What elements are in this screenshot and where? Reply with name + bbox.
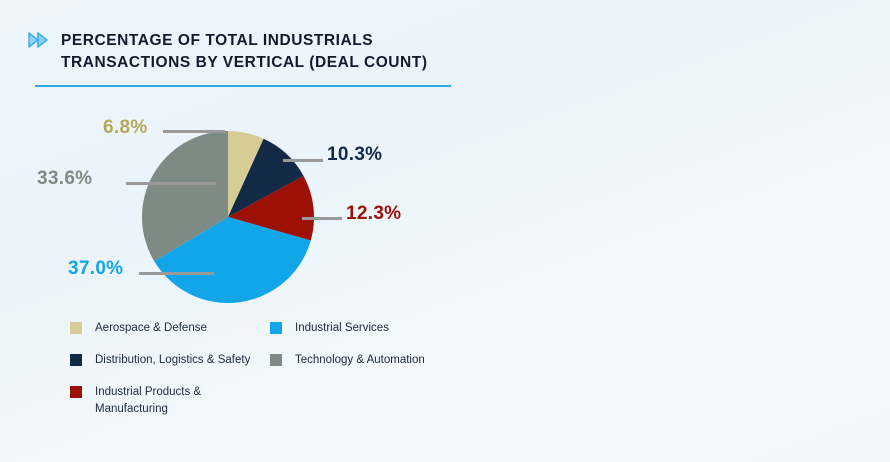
pie-percentage-label: 6.8% xyxy=(103,117,148,139)
pie-chart-panel: PERCENTAGE OF TOTAL INDUSTRIALS TRANSACT… xyxy=(0,0,462,462)
legend-label: Industrial Products & Manufacturing xyxy=(95,384,270,417)
legend-item: Technology & Automation xyxy=(270,352,460,384)
pie-leader-line xyxy=(283,159,323,162)
legend-swatch xyxy=(70,354,82,366)
pie-chart-legend: Aerospace & DefenseIndustrial ServicesDi… xyxy=(70,320,460,417)
pie-leader-line xyxy=(302,217,342,220)
bar-chart-panel: CAPITAL DEPLOYED BY VERTICAL Capital Dep… xyxy=(462,0,890,462)
legend-swatch xyxy=(270,354,282,366)
legend-label: Distribution, Logistics & Safety xyxy=(95,352,250,369)
legend-label: Technology & Automation xyxy=(295,352,425,369)
pie-percentage-label: 33.6% xyxy=(37,168,92,190)
legend-item: Aerospace & Defense xyxy=(70,320,270,352)
pie-leader-line xyxy=(163,130,225,133)
legend-item: Distribution, Logistics & Safety xyxy=(70,352,270,384)
pie-percentage-label: 12.3% xyxy=(346,203,401,225)
pie-chart: 6.8%10.3%12.3%37.0%33.6% xyxy=(0,0,462,320)
legend-label: Industrial Services xyxy=(295,320,389,337)
pie-leader-line xyxy=(139,272,214,275)
pie-leader-line xyxy=(126,182,216,185)
legend-item: Industrial Services xyxy=(270,320,460,352)
legend-swatch xyxy=(70,322,82,334)
legend-swatch xyxy=(270,322,282,334)
legend-item: Industrial Products & Manufacturing xyxy=(70,384,270,417)
legend-swatch xyxy=(70,386,82,398)
legend-label: Aerospace & Defense xyxy=(95,320,207,337)
pie-percentage-label: 10.3% xyxy=(327,144,382,166)
pie-percentage-label: 37.0% xyxy=(68,258,123,280)
